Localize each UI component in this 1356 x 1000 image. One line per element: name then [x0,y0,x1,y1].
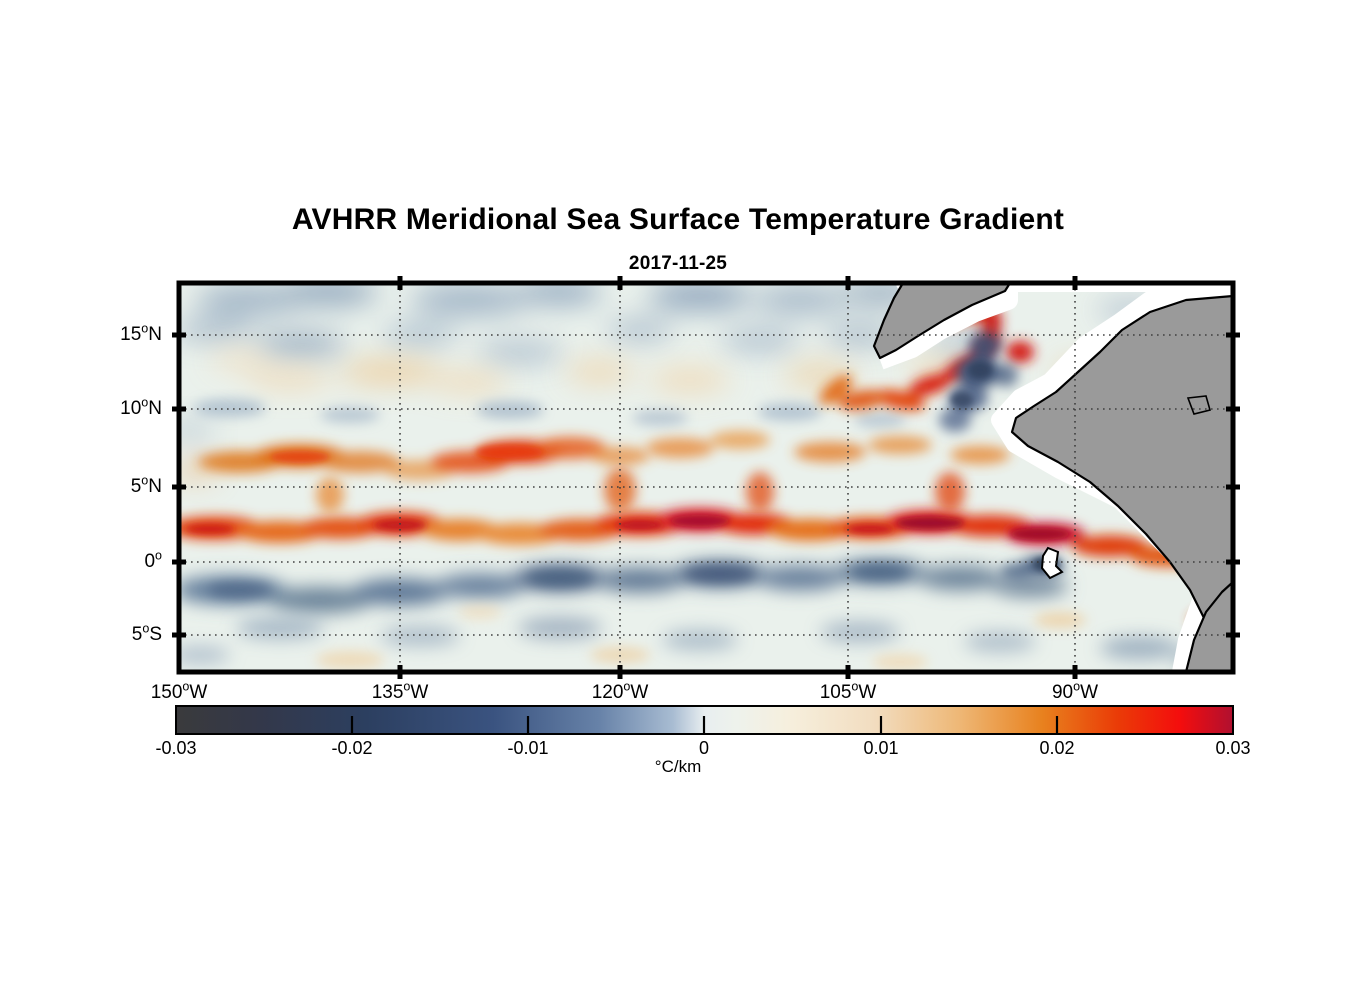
colorbar-tick-label-2: -0.01 [468,738,588,759]
colorbar-tick-label-1: -0.02 [292,738,412,759]
colorbar-tick-label-6: 0.03 [1173,738,1293,759]
x-tick-label-135w: 135oW [330,682,470,704]
colorbar-tick-label-4: 0.01 [821,738,941,759]
y-tick-label-5n: 5oN [74,476,162,498]
colorbar-tick-label-0: -0.03 [116,738,236,759]
x-tick-label-90w: 90oW [1005,682,1145,704]
colorbar-unit-label: °C/km [0,757,1356,777]
x-tick-label-150w: 150oW [109,682,249,704]
y-tick-label-15n: 15oN [74,324,162,346]
y-tick-label-0: 0o [74,551,162,573]
y-tick-label-10n: 10oN [74,398,162,420]
figure-canvas: AVHRR Meridional Sea Surface Temperature… [0,0,1356,1000]
x-tick-label-120w: 120oW [550,682,690,704]
colorbar-tick-label-5: 0.02 [997,738,1117,759]
x-tick-label-105w: 105oW [778,682,918,704]
colorbar-tick-label-3: 0 [644,738,764,759]
y-tick-label-5s: 5oS [74,624,162,646]
map-plot [0,0,1356,1000]
